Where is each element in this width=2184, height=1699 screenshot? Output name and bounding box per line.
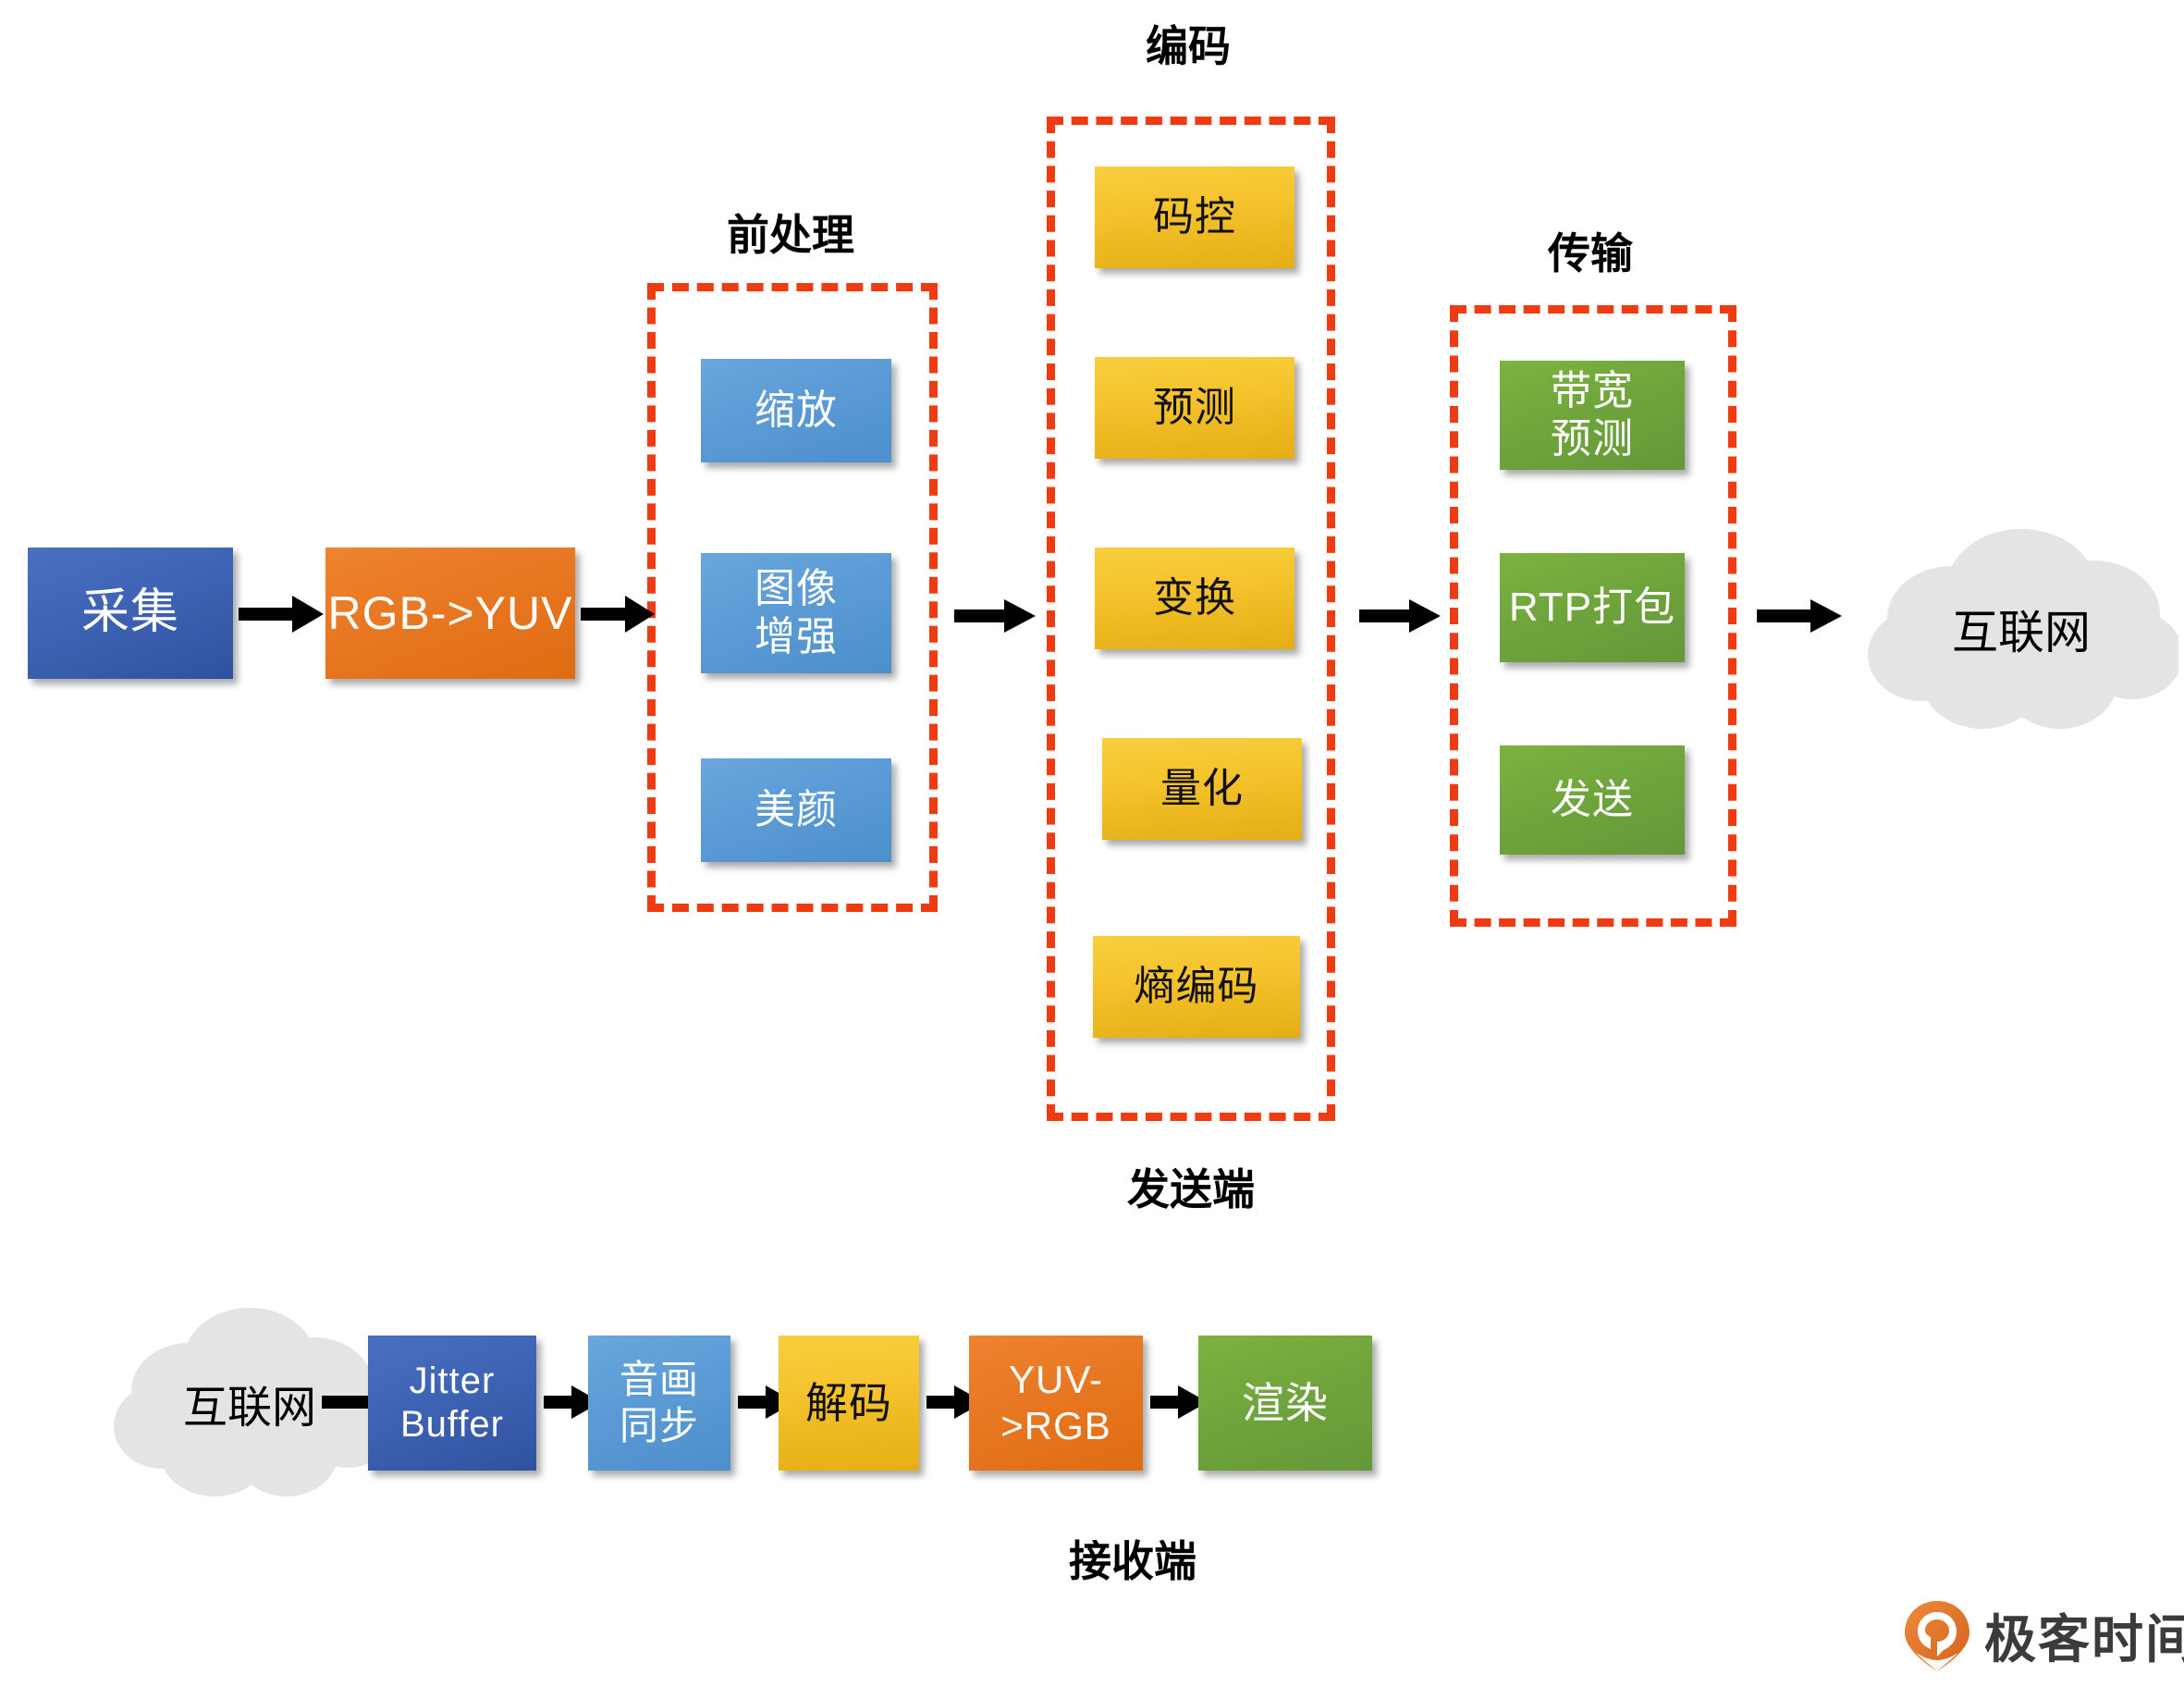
arrow-encode-to-transmit bbox=[1359, 599, 1441, 633]
brand-logo: 极客时间 bbox=[1903, 1598, 2184, 1673]
caption-sender: 发送端 bbox=[1047, 1156, 1335, 1217]
node-jitter-buffer[interactable]: Jitter Buffer bbox=[368, 1336, 536, 1471]
node-capture[interactable]: 采集 bbox=[28, 548, 233, 679]
arrow-capture-to-rgb2yuv bbox=[239, 596, 324, 633]
node-transmit-bandwidth-estimation[interactable]: 带宽 预测 bbox=[1500, 361, 1685, 470]
node-yuv-to-rgb[interactable]: YUV->RGB bbox=[969, 1336, 1143, 1471]
node-render[interactable]: 渲染 bbox=[1198, 1336, 1372, 1471]
node-encode-prediction[interactable]: 预测 bbox=[1095, 357, 1294, 459]
caption-receiver: 接收端 bbox=[971, 1528, 1294, 1589]
geektime-pin-icon bbox=[1903, 1599, 1971, 1673]
node-preprocess-beautify[interactable]: 美颜 bbox=[701, 758, 891, 862]
arrow-rgb2yuv-to-preprocess bbox=[581, 596, 655, 633]
node-rgb-to-yuv[interactable]: RGB->YUV bbox=[325, 548, 575, 679]
node-encode-entropy-coding[interactable]: 熵编码 bbox=[1093, 936, 1300, 1038]
diagram-canvas: 前处理 编码 传输 采集 RGB->YUV 缩放 图像 增强 美颜 码控 预测 … bbox=[0, 0, 2184, 1699]
node-transmit-rtp-packetize[interactable]: RTP打包 bbox=[1500, 553, 1685, 662]
node-preprocess-scale[interactable]: 缩放 bbox=[701, 359, 891, 462]
node-preprocess-image-enhance[interactable]: 图像 增强 bbox=[701, 553, 891, 673]
cloud-internet-sender: 互联网 bbox=[1864, 514, 2178, 745]
cloud-label-internet-sender: 互联网 bbox=[1864, 596, 2178, 662]
node-encode-quantization[interactable]: 量化 bbox=[1102, 738, 1302, 840]
group-title-encode: 编码 bbox=[1045, 13, 1331, 74]
node-transmit-send[interactable]: 发送 bbox=[1500, 745, 1685, 855]
node-decode[interactable]: 解码 bbox=[779, 1336, 919, 1471]
brand-logo-text: 极客时间 bbox=[1984, 1598, 2184, 1673]
node-encode-transform[interactable]: 变换 bbox=[1095, 548, 1294, 649]
arrow-transmit-to-internet bbox=[1757, 599, 1842, 633]
arrow-preprocess-to-encode bbox=[954, 599, 1036, 633]
group-title-preprocess: 前处理 bbox=[647, 202, 934, 263]
node-encode-rate-control[interactable]: 码控 bbox=[1095, 166, 1294, 268]
group-title-transmit: 传输 bbox=[1447, 220, 1734, 281]
node-av-sync[interactable]: 音画 同步 bbox=[588, 1336, 730, 1471]
